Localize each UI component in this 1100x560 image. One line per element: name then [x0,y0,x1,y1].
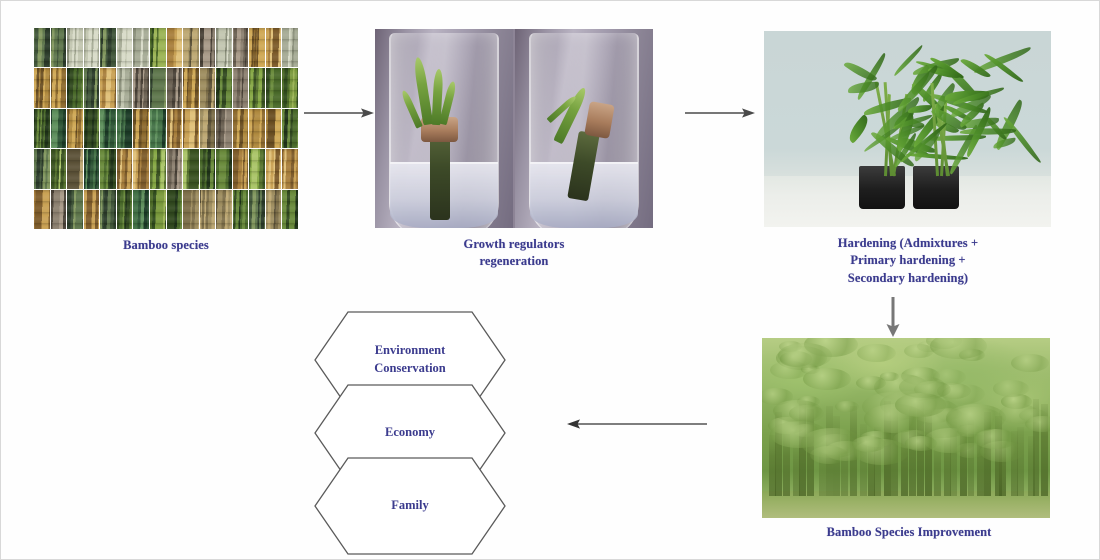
bamboo-species-tile [100,68,116,107]
bamboo-species-tile [200,149,216,188]
bamboo-leaf [848,82,879,93]
bamboo-leaf [844,114,872,143]
hardening-caption-line1: Hardening (Admixtures + [753,235,1063,252]
bamboo-species-tile [51,190,67,229]
bamboo-species-tile [200,190,216,229]
culture-tube-right [515,29,653,228]
grove-foliage [899,376,945,398]
bamboo-species-tile [34,190,50,229]
bamboo-species-tile [249,109,265,148]
bamboo-species-tile [183,109,199,148]
bamboo-species-tile [216,28,232,67]
bamboo-improvement-caption-text: Bamboo Species Improvement [827,525,992,539]
bamboo-species-tile [282,109,298,148]
grove-foliage [803,368,851,390]
bench-surface [764,176,1051,227]
bamboo-species-tile [233,190,249,229]
grove-foliage [1025,416,1050,433]
bamboo-species-tile [266,190,282,229]
grove-foliage [905,436,937,451]
bamboo-species-tile [282,149,298,188]
bamboo-species-tile [67,190,83,229]
bamboo-grove [762,338,1050,518]
bamboo-species-tile [34,28,50,67]
bamboo-species-tile [249,190,265,229]
hardening-image [764,31,1051,227]
bamboo-species-tile [216,68,232,107]
bamboo-species-tile [183,149,199,188]
bamboo-species-tile [233,28,249,67]
bamboo-species-tile [282,28,298,67]
bamboo-species-tile [117,109,133,148]
bamboo-species-tile [200,68,216,107]
bamboo-species-tile [117,149,133,188]
bamboo-species-tile [51,149,67,188]
grove-foliage [789,405,824,422]
bamboo-species-tile [150,149,166,188]
bamboo-species-tile [100,28,116,67]
arrow-regeneration-to-hardening [685,101,755,125]
grove-foliage [857,344,895,362]
bamboo-species-tile [133,149,149,188]
bamboo-species-tile [266,109,282,148]
bamboo-species-tile [200,28,216,67]
bamboo-leaf [908,105,932,114]
grove-foliage [880,372,900,381]
bamboo-species-tile [266,68,282,107]
grove-foliage [778,343,831,368]
bamboo-species-tile [266,28,282,67]
growth-regulators-caption-line1: Growth regulators [375,236,653,253]
bamboo-species-tile [67,28,83,67]
grove-culm [934,446,941,497]
bamboo-species-tile [200,109,216,148]
culture-tubes [375,29,653,228]
bamboo-species-tile [133,28,149,67]
bamboo-species-tile [84,109,100,148]
bamboo-species-tile [167,109,183,148]
bamboo-species-tile [51,68,67,107]
arrow-hardening-to-improvement [881,297,905,337]
hardening-caption-line3: Secondary hardening) [753,270,1063,287]
bamboo-species-caption-text: Bamboo species [123,238,209,252]
bamboo-species-collage [34,28,298,229]
grove-foliage [993,380,1029,397]
bamboo-species-tile [67,68,83,107]
bamboo-species-tile [167,68,183,107]
bamboo-species-tile [84,28,100,67]
bamboo-species-tile [167,190,183,229]
arrow-species-to-regeneration [304,101,374,125]
bamboo-species-tile [233,149,249,188]
bamboo-species-tile [216,190,232,229]
bamboo-species-tile [183,190,199,229]
hardened-plantlets [764,31,1051,227]
bamboo-species-tile [67,149,83,188]
hardening-caption-line2: Primary hardening + [753,252,1063,269]
bamboo-improvement-diagram: Bamboo species [0,0,1100,560]
bamboo-species-tile [133,68,149,107]
bamboo-species-tile [51,109,67,148]
bamboo-species-tile [117,190,133,229]
bamboo-species-tile [84,68,100,107]
bamboo-species-tile [233,109,249,148]
bamboo-species-tile [84,190,100,229]
bamboo-species-tile [150,68,166,107]
bamboo-species-tile [282,190,298,229]
grove-foliage [835,401,859,412]
bamboo-species-tile [233,68,249,107]
bamboo-species-tile [249,68,265,107]
bamboo-species-tile [282,68,298,107]
bamboo-species-tile [150,190,166,229]
bamboo-species-tile [51,28,67,67]
bamboo-species-tile [216,109,232,148]
bamboo-species-tile [183,28,199,67]
growth-regulators-image [375,29,653,228]
bamboo-species-tile [100,109,116,148]
bamboo-species-caption: Bamboo species [34,237,298,254]
bamboo-species-tile [117,28,133,67]
bamboo-species-tile [249,149,265,188]
bamboo-species-tile [183,68,199,107]
bamboo-species-tile [150,109,166,148]
bamboo-species-tile [34,149,50,188]
bamboo-species-tile [100,190,116,229]
polybag-left [859,166,905,209]
grove-culm [1017,427,1024,497]
bamboo-species-tile [34,109,50,148]
hexagon-family[interactable]: Family [314,457,506,555]
bamboo-species-image [34,28,298,229]
bamboo-species-tile [216,149,232,188]
arrow-improvement-to-outcomes [567,412,707,436]
outcomes-hexagon-stack: Environment Conservation Economy Family [314,311,514,551]
bamboo-improvement-image [762,338,1050,518]
bamboo-species-tile [84,149,100,188]
bamboo-species-tile [167,28,183,67]
bamboo-species-tile [100,149,116,188]
growth-regulators-caption-line2: regeneration [375,253,653,270]
growth-regulators-caption: Growth regulators regeneration [375,236,653,271]
bamboo-species-tile [117,68,133,107]
bamboo-species-tile [266,149,282,188]
bamboo-species-tile [133,109,149,148]
bamboo-species-tile [34,68,50,107]
bamboo-improvement-caption: Bamboo Species Improvement [749,524,1069,541]
hardening-caption: Hardening (Admixtures + Primary hardenin… [753,235,1063,287]
bamboo-species-tile [133,190,149,229]
bamboo-species-tile [249,28,265,67]
grove-foliage [1011,354,1049,372]
bamboo-leaf [992,138,1016,149]
bamboo-species-tile [67,109,83,148]
bamboo-species-tile [167,149,183,188]
bamboo-species-tile [150,28,166,67]
culture-tube-left [375,29,513,228]
